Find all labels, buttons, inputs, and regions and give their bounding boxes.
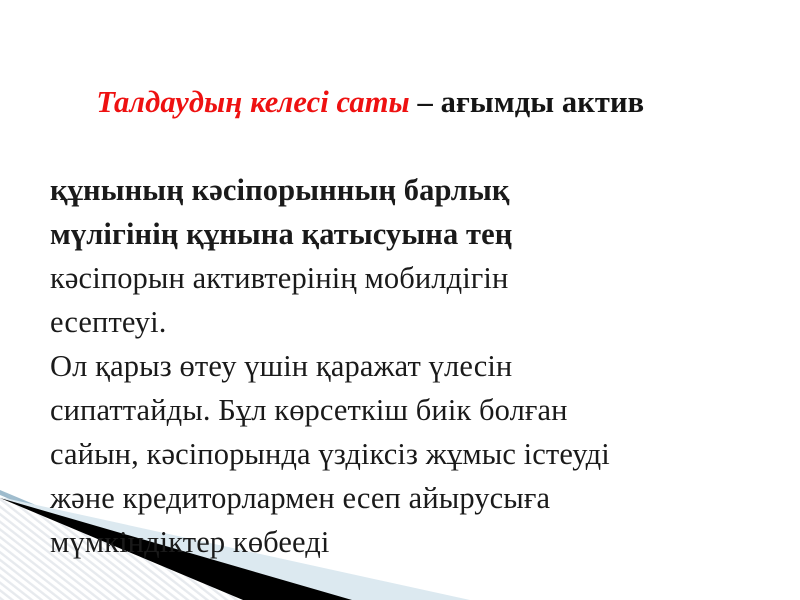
title-continuation: ағымды актив bbox=[441, 85, 645, 119]
title-separator: – bbox=[410, 85, 441, 119]
body-line-7: сайын, кәсіпорында үздіксіз жұмыс істеуд… bbox=[50, 432, 760, 476]
title-line: Талдаудың келесі саты – ағымды актив bbox=[50, 36, 760, 168]
body-line-5: Ол қарыз өтеу үшін қаражат үлесін bbox=[50, 344, 760, 388]
slide-canvas: Талдаудың келесі саты – ағымды актив құн… bbox=[0, 0, 800, 600]
body-line-6: сипаттайды. Бұл көрсеткіш биік болған bbox=[50, 388, 760, 432]
body-line-1: құнының кәсіпорынның барлық bbox=[50, 168, 760, 212]
body-line-9: мүмкіндіктер көбееді bbox=[50, 520, 760, 564]
body-line-3: кәсіпорын активтерінің мобилдігін bbox=[50, 256, 760, 300]
body-line-8: және кредиторлармен есеп айырусыға bbox=[50, 476, 760, 520]
body-line-2: мүлігінің құнына қатысуына тең bbox=[50, 212, 760, 256]
body-line-4: есептеуі. bbox=[50, 300, 760, 344]
slide-text-body: Талдаудың келесі саты – ағымды актив құн… bbox=[50, 36, 760, 564]
title-emphasis: Талдаудың келесі саты bbox=[96, 85, 409, 119]
